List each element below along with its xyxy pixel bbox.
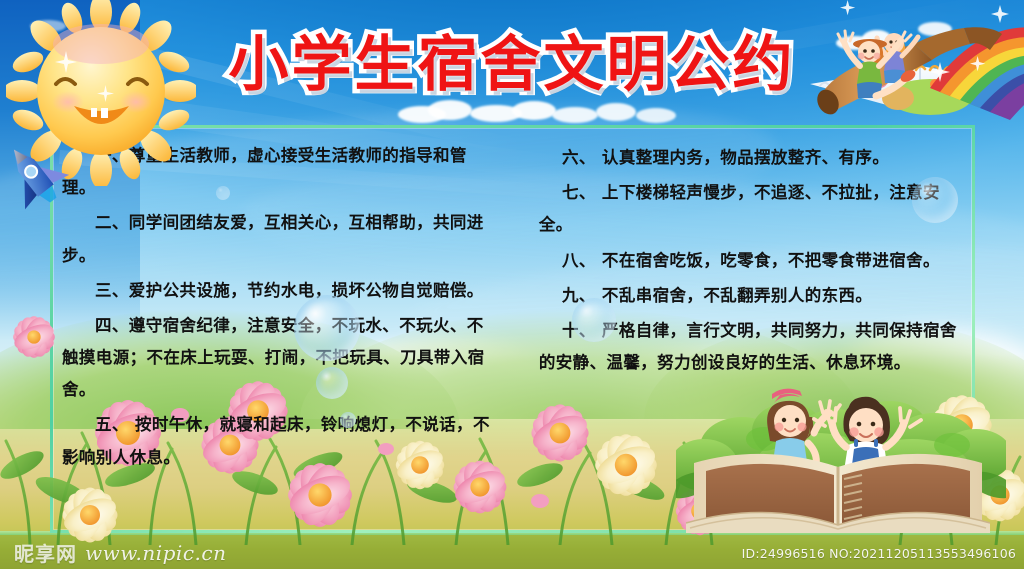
rule-item: 五、 按时午休，就寝和起床，铃响熄灯，不说话，不影响别人休息。 (62, 409, 499, 473)
rule-item: 二、同学间团结友爱，互相关心，互相帮助，共同进步。 (62, 207, 499, 271)
watermark: 昵享网 www.nipic.cn (14, 538, 226, 567)
title-area: 小学生宿舍文明公约 (0, 34, 1024, 97)
poster-canvas: 小学生宿舍文明公约 一、尊重生活教师，虚心接受生活教师的指导和管理。 二、同学间… (0, 0, 1024, 569)
rules-column-right: 六、 认真整理内务，物品摆放整齐、有序。 七、 上下楼梯轻声慢步，不追逐、不拉扯… (525, 140, 966, 477)
rule-item: 三、爱护公共设施，节约水电，损坏公物自觉赔偿。 (62, 275, 499, 307)
rule-item: 六、 认真整理内务，物品摆放整齐、有序。 (539, 142, 966, 174)
watermark-logo: 昵享网 (14, 538, 77, 567)
page-title: 小学生宿舍文明公约 (229, 34, 796, 97)
rule-item: 四、遵守宿舍纪律，注意安全，不玩水、不玩火、不触摸电源；不在床上玩耍、打闹，不把… (62, 310, 499, 407)
rocket-icon (0, 138, 74, 212)
rule-item: 七、 上下楼梯轻声慢步，不追逐、不拉扯，注意安全。 (539, 177, 966, 241)
rule-item: 九、 不乱串宿舍，不乱翻弄别人的东西。 (539, 280, 966, 312)
rules-column-left: 一、尊重生活教师，虚心接受生活教师的指导和管理。 二、同学间团结友爱，互相关心，… (62, 140, 503, 477)
watermark-url: www.nipic.cn (85, 541, 226, 565)
rule-item: 八、 不在宿舍吃饭，吃零食，不把零食带进宿舍。 (539, 245, 966, 277)
rules-columns: 一、尊重生活教师，虚心接受生活教师的指导和管理。 二、同学间团结友爱，互相关心，… (62, 140, 966, 477)
id-code: ID:24996516 NO:20211205113553496106 (742, 546, 1016, 561)
rule-item: 十、 严格自律，言行文明，共同努力，共同保持宿舍的安静、温馨，努力创设良好的生活… (539, 315, 966, 379)
